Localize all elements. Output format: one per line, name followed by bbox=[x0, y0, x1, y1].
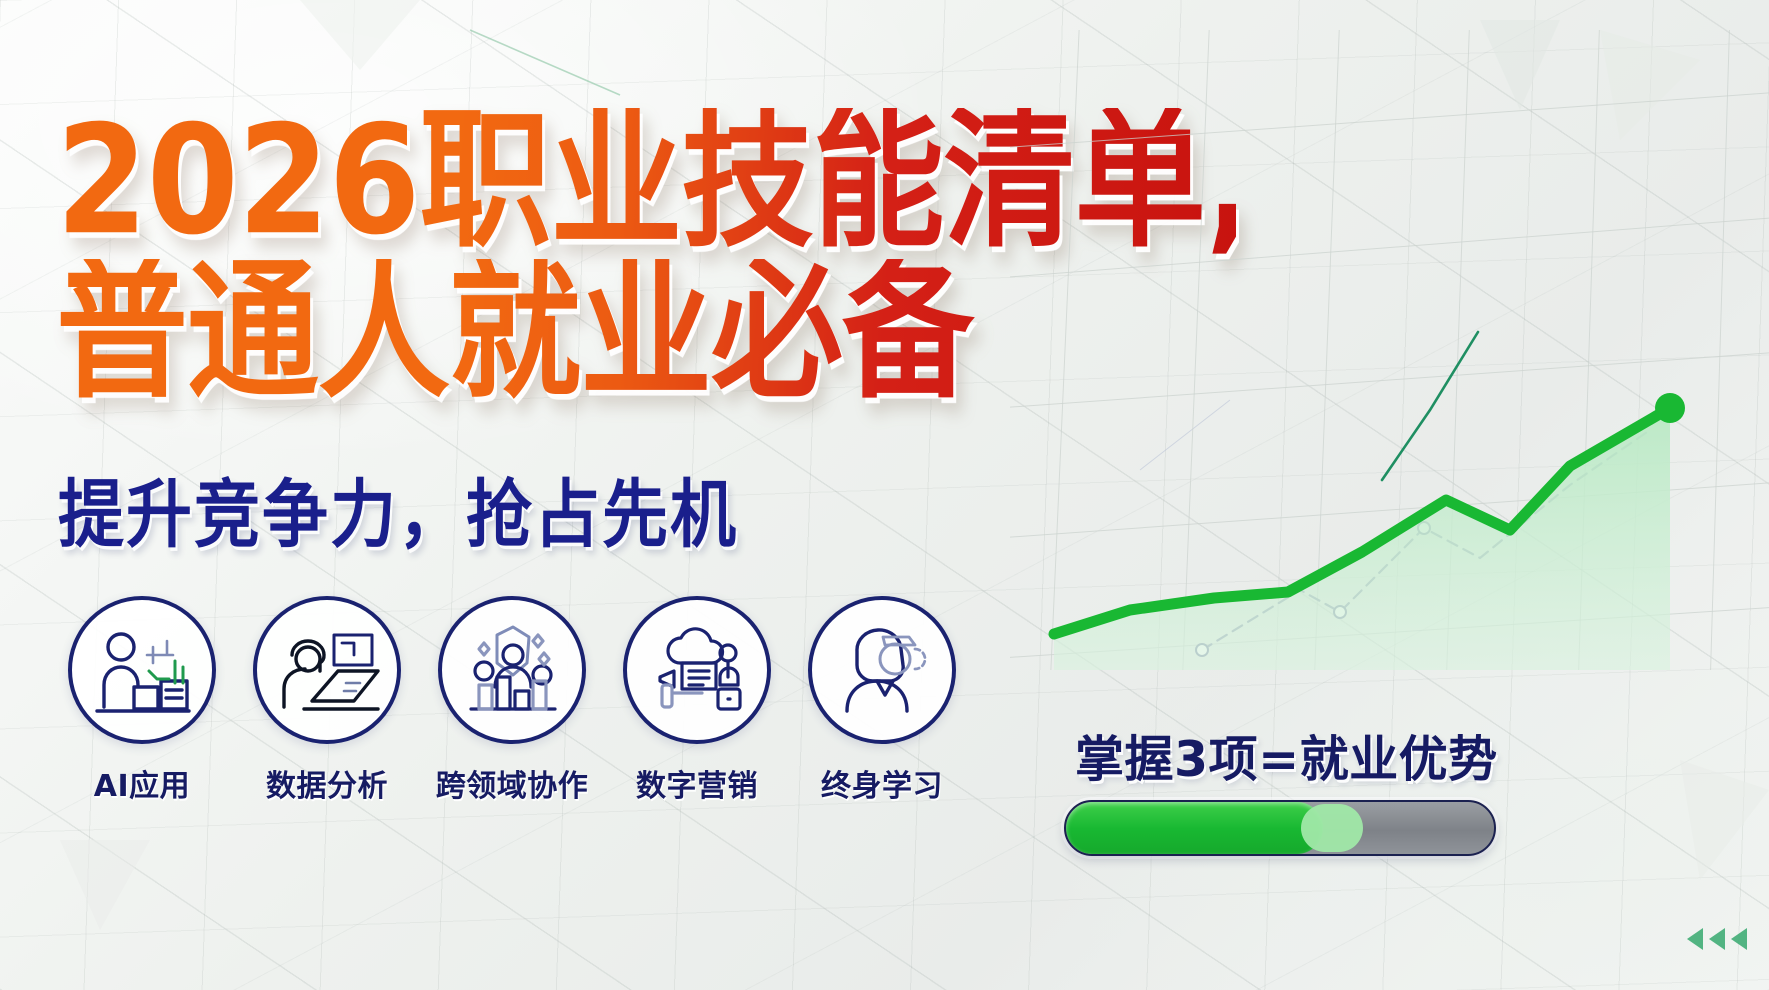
chart-endpoint-marker bbox=[1655, 393, 1685, 423]
skill-item-lifelong-learning[interactable]: 终身学习 bbox=[802, 596, 962, 805]
skill-label: 数据分析 bbox=[266, 761, 388, 805]
poster-canvas: 2026职业技能清单, 普通人就业必备 提升竞争力，抢占先机 bbox=[0, 0, 1769, 990]
triangle-left-icon bbox=[1687, 928, 1703, 950]
ai-workstation-icon bbox=[68, 596, 216, 744]
corner-triangle-left-icons bbox=[1687, 928, 1747, 950]
skill-item-cross-domain[interactable]: 跨领域协作 bbox=[432, 596, 592, 805]
triangle-left-icon bbox=[1731, 928, 1747, 950]
growth-chart bbox=[1010, 30, 1769, 670]
cloud-marketing-icon bbox=[623, 596, 771, 744]
subtitle: 提升竞争力，抢占先机 bbox=[58, 455, 738, 563]
skill-item-data-analysis[interactable]: 数据分析 bbox=[247, 596, 407, 805]
laptop-analyst-icon bbox=[253, 596, 401, 744]
team-chart-icon bbox=[438, 596, 586, 744]
progress-bar-track[interactable] bbox=[1064, 800, 1496, 856]
skill-label: 数字营销 bbox=[636, 761, 758, 805]
triangle-left-icon bbox=[1709, 928, 1725, 950]
progress-bar-tip bbox=[1301, 804, 1363, 852]
skill-label: 终身学习 bbox=[821, 761, 943, 805]
skill-label: AI应用 bbox=[94, 761, 190, 805]
skill-icon-row: AI应用 数据分析 bbox=[62, 596, 962, 805]
chart-area-fill bbox=[1054, 408, 1670, 670]
skill-item-digital-marketing[interactable]: 数字营销 bbox=[617, 596, 777, 805]
cta-headline: 掌握3项=就业优势 bbox=[1075, 720, 1498, 791]
skill-label: 跨领域协作 bbox=[436, 761, 589, 805]
learner-icon bbox=[808, 596, 956, 744]
progress-bar-fill bbox=[1066, 802, 1323, 854]
skill-item-ai[interactable]: AI应用 bbox=[62, 596, 222, 805]
chart-thin-green-line bbox=[1382, 332, 1478, 480]
